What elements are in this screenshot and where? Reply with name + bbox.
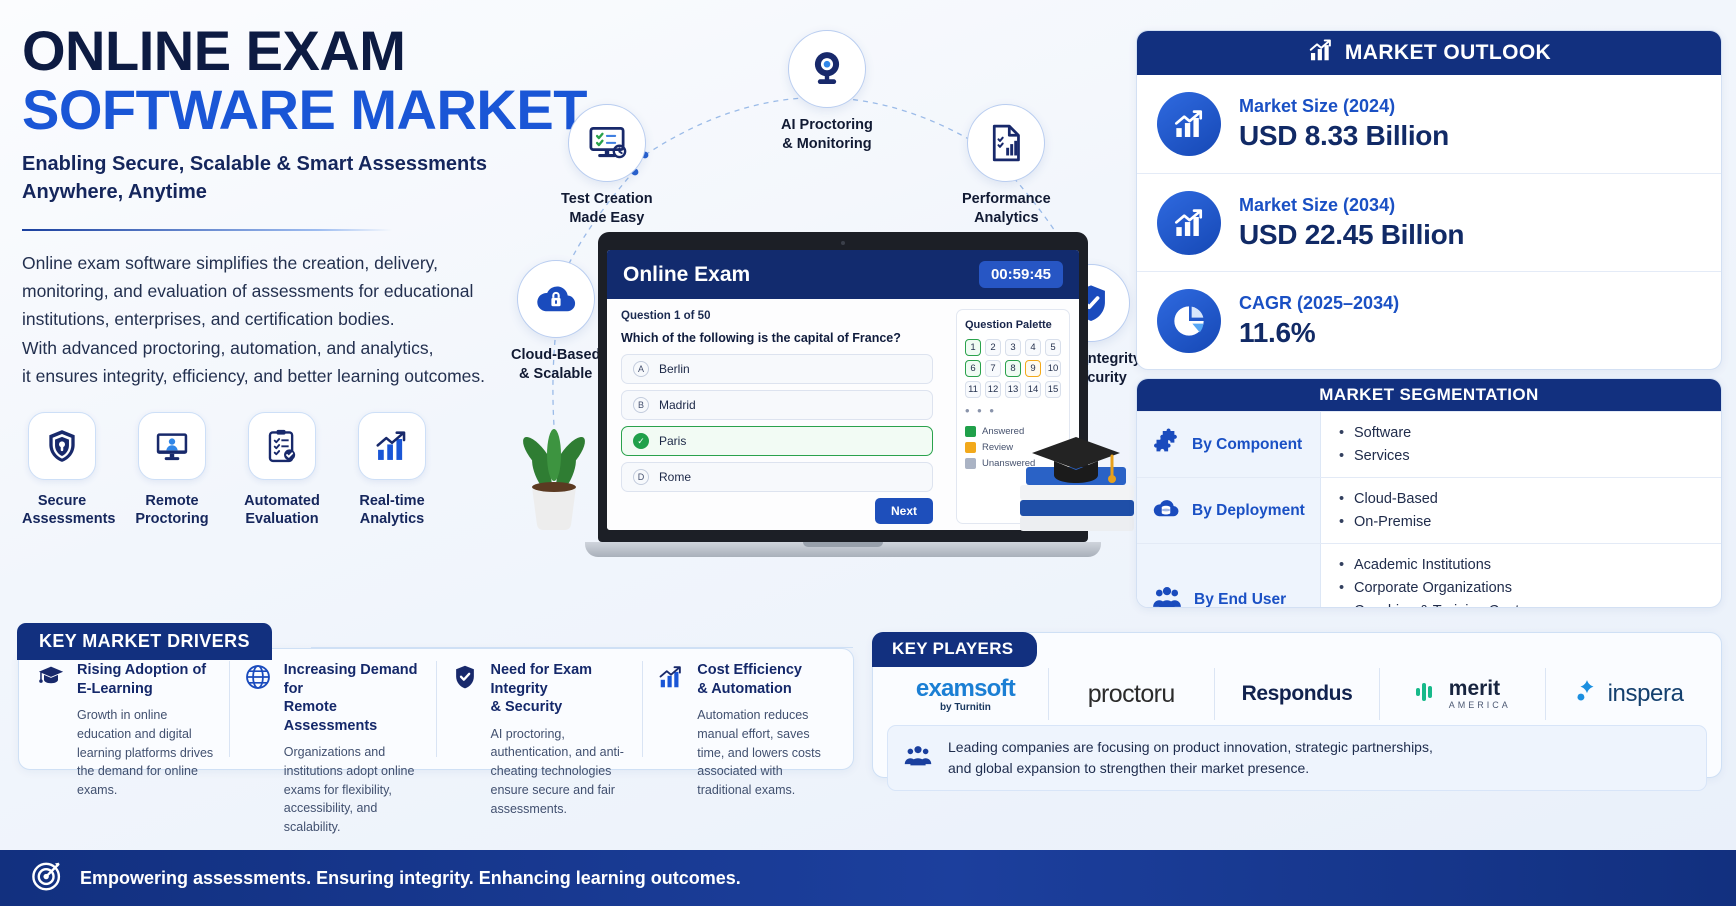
title-line2: Remote Assessments [284,698,422,735]
label-line1: Test Creation [561,190,653,209]
logo-proctoru[interactable]: proctoru [1048,668,1214,720]
bar-chart-arrow-icon [1307,36,1335,70]
metric-label: CAGR (2025–2034) [1239,293,1399,314]
feature-pill-label: Real-time Analytics [352,492,432,529]
hub-node-ai-proctoring[interactable]: AI Proctoring & Monitoring [781,30,873,153]
bar-chart-arrow-icon [657,661,687,757]
segmentation-row-items: Academic Institutions Corporate Organiza… [1321,544,1721,608]
driver-title: Rising Adoption of E-Learning [77,661,215,698]
next-question-button[interactable]: Next [875,498,933,524]
metric-value: USD 8.33 Billion [1239,120,1449,152]
segmentation-item: Corporate Organizations [1339,577,1703,600]
label-line2: Assessments [22,510,102,528]
question-counter: Question 1 of 50 [621,310,933,322]
legend-label: Review [982,442,1013,453]
logo-respondus[interactable]: Respondus [1214,668,1380,720]
key-market-drivers-panel: KEY MARKET DRIVERS Rising Adoption of E-… [18,648,854,770]
key-market-drivers-heading: KEY MARKET DRIVERS [17,623,272,660]
answer-option-list: A Berlin B Madrid ✓ Paris [621,354,933,492]
key-market-drivers-rule [311,647,853,648]
option-text: Rome [659,470,691,484]
title-line2: & Automation [697,680,835,699]
driver-remote-assessments: Increasing Demand for Remote Assessments… [229,661,436,757]
driver-text: Cost Efficiency & Automation Automation … [697,661,835,757]
feature-pill-remote-proctoring[interactable]: Remote Proctoring [132,412,212,529]
palette-number[interactable]: 11 [965,381,981,398]
cloud-db-icon [1151,493,1181,528]
legend-swatch [965,442,976,453]
analytics-doc-icon [967,104,1045,182]
segmentation-row-deployment: By Deployment Cloud-Based On-Premise [1137,477,1721,543]
logo-examsoft[interactable]: examsoft by Turnitin [883,668,1048,720]
key-players-panel: KEY PLAYERS examsoft by Turnitin proctor… [872,632,1722,778]
intro-line: monitoring, and evaluation of assessment… [22,277,492,305]
intro-paragraph: Online exam software simplifies the crea… [22,249,492,391]
label-line2: Analytics [962,209,1051,228]
exam-app-title: Online Exam [623,263,750,287]
label-line2: Made Easy [561,209,653,228]
palette-number[interactable]: 2 [985,339,1001,356]
title-line1: Need for Exam Integrity [491,661,629,698]
segmentation-label: By Component [1192,436,1302,454]
globe-icon [244,661,274,757]
logo-merit-tagline: AMERICA [1449,700,1511,710]
palette-number[interactable]: 6 [965,360,981,377]
option-key: B [633,397,649,413]
driver-text: Rising Adoption of E-Learning Growth in … [77,661,215,757]
hub-node-label: AI Proctoring & Monitoring [781,116,873,153]
logo-proctoru-name: proctoru [1088,680,1175,709]
answer-option-b[interactable]: B Madrid [621,390,933,420]
feature-pill-label: Automated Evaluation [242,492,322,529]
market-outlook-row-size-2024: Market Size (2024) USD 8.33 Billion [1137,75,1721,173]
palette-number[interactable]: 15 [1045,381,1061,398]
segmentation-item: On-Premise [1339,511,1703,534]
label-line2: & Monitoring [781,135,873,154]
key-players-heading: KEY PLAYERS [872,632,1037,667]
segmentation-row-label: By Deployment [1137,478,1321,543]
label-line2: Analytics [352,510,432,528]
monitor-user-icon [138,412,206,480]
segmentation-row-label: By Component [1137,412,1321,477]
label-line1: Secure [22,492,102,510]
label-line1: Performance [962,190,1051,209]
driver-body: Automation reduces manual effort, saves … [697,706,835,800]
palette-number[interactable]: 8 [1005,360,1021,377]
palette-number[interactable]: 13 [1005,381,1021,398]
hub-node-label: Cloud-Based & Scalable [511,346,600,383]
palette-number[interactable]: 9 [1025,360,1041,377]
answer-option-c-selected[interactable]: ✓ Paris [621,426,933,456]
market-segmentation-header: MARKET SEGMENTATION [1137,379,1721,411]
cloud-lock-icon [517,260,595,338]
test-creation-icon [568,104,646,182]
question-palette-grid: 1 2 3 4 5 6 7 8 9 10 11 [965,339,1061,398]
title-line2: E-Learning [77,680,215,699]
market-outlook-row-text: Market Size (2024) USD 8.33 Billion [1239,96,1449,152]
label-line2: Proctoring [132,510,212,528]
intro-line: it ensures integrity, efficiency, and be… [22,362,492,390]
palette-number[interactable]: 5 [1045,339,1061,356]
driver-body: Organizations and institutions adopt onl… [284,743,422,837]
key-players-note: Leading companies are focusing on produc… [887,725,1707,791]
hub-node-test-creation[interactable]: Test Creation Made Easy [561,104,653,227]
shield-check-icon [451,661,481,757]
feature-pill-realtime-analytics[interactable]: Real-time Analytics [352,412,432,529]
segmentation-row-items: Software Services [1321,412,1721,477]
palette-number[interactable]: 4 [1025,339,1041,356]
palette-number[interactable]: 12 [985,381,1001,398]
market-outlook-row-size-2034: Market Size (2034) USD 22.45 Billion [1137,173,1721,271]
webcam-icon [788,30,866,108]
segmentation-item: Cloud-Based [1339,488,1703,511]
driver-text: Increasing Demand for Remote Assessments… [284,661,422,757]
legend-swatch [965,458,976,469]
feature-pill-label: Secure Assessments [22,492,102,529]
driver-rising-adoption: Rising Adoption of E-Learning Growth in … [23,661,229,757]
market-outlook-row-cagr: CAGR (2025–2034) 11.6% [1137,271,1721,369]
logo-inspera[interactable]: inspera [1545,668,1711,720]
laptop-base [585,542,1101,557]
question-palette-title: Question Palette [965,319,1061,331]
label-line1: AI Proctoring [781,116,873,135]
decorative-plant [508,395,600,530]
people-icon [902,742,934,775]
label-line1: Real-time [352,492,432,510]
driver-title: Need for Exam Integrity & Security [491,661,629,717]
title-line2: & Security [491,698,629,717]
exam-timer: 00:59:45 [979,261,1063,288]
target-icon [30,859,64,898]
exam-app-screen: Online Exam 00:59:45 Question 1 of 50 Wh… [607,250,1079,530]
people-icon [1151,581,1183,608]
feature-pill-label: Remote Proctoring [132,492,212,529]
answer-option-d[interactable]: D Rome [621,462,933,492]
answer-option-a[interactable]: A Berlin [621,354,933,384]
segmentation-label: By End User [1194,591,1286,608]
metric-label: Market Size (2034) [1239,195,1464,216]
intro-line: institutions, enterprises, and certifica… [22,305,492,333]
decorative-books-graduation-cap [1012,415,1142,540]
title-line1: Increasing Demand for [284,661,422,698]
label-line2: Evaluation [242,510,322,528]
option-selected-check-icon: ✓ [633,433,649,449]
intro-line: Online exam software simplifies the crea… [22,249,492,277]
footer-text: Empowering assessments. Ensuring integri… [80,868,741,889]
segmentation-row-items: Cloud-Based On-Premise [1321,478,1721,543]
logo-merit-name: merit [1449,677,1500,700]
driver-exam-integrity: Need for Exam Integrity & Security AI pr… [436,661,643,757]
hub-node-cloud-based[interactable]: Cloud-Based & Scalable [511,260,600,383]
question-text: Which of the following is the capital of… [621,331,933,345]
puzzle-icon [1151,427,1181,462]
segmentation-row-end-user: By End User Academic Institutions Corpor… [1137,543,1721,608]
driver-title: Cost Efficiency & Automation [697,661,835,698]
segmentation-item: Software [1339,422,1703,445]
palette-number[interactable]: 10 [1045,360,1061,377]
title-line1: Rising Adoption of [77,661,215,680]
exam-question-pane: Question 1 of 50 Which of the following … [607,299,947,530]
logo-examsoft-name: examsoft [916,675,1015,703]
graduation-cap-icon [37,661,67,757]
shield-lock-icon [28,412,96,480]
driver-body: Growth in online education and digital l… [77,706,215,800]
market-segmentation-panel: MARKET SEGMENTATION By Component Softwar… [1136,378,1722,608]
market-outlook-panel: MARKET OUTLOOK Market Size (2024) USD 8.… [1136,30,1722,370]
option-text: Madrid [659,398,696,412]
growth-chart-icon [1157,92,1221,156]
segmentation-item: Coaching & Training Centers [1339,600,1703,608]
legend-swatch [965,426,976,437]
laptop-trackpad-notch [803,542,883,547]
growth-chart-icon [1157,191,1221,255]
hub-node-label: Test Creation Made Easy [561,190,653,227]
label-line1: Remote [132,492,212,510]
merit-bars-icon [1415,680,1441,709]
driver-title: Increasing Demand for Remote Assessments [284,661,422,735]
metric-value: 11.6% [1239,317,1399,349]
exam-app-header: Online Exam 00:59:45 [607,250,1079,299]
logo-examsoft-tagline: by Turnitin [916,702,1015,713]
segmentation-row-component: By Component Software Services [1137,411,1721,477]
segmentation-label: By Deployment [1192,502,1305,520]
hub-node-performance-analytics[interactable]: Performance Analytics [962,104,1051,227]
feature-pill-list: Secure Assessments Remote Proctoring Aut… [22,412,432,529]
metric-label: Market Size (2024) [1239,96,1449,117]
segmentation-row-label: By End User [1137,544,1321,608]
title-divider [22,229,392,231]
clipboard-check-icon [248,412,316,480]
market-outlook-title: MARKET OUTLOOK [1345,41,1551,65]
option-key: D [633,469,649,485]
hub-node-label: Performance Analytics [962,190,1051,227]
bar-chart-arrow-icon [358,412,426,480]
inspera-mark-icon [1574,678,1600,711]
logo-respondus-name: Respondus [1242,682,1353,706]
driver-body: AI proctoring, authentication, and anti-… [491,725,629,819]
market-outlook-row-text: Market Size (2034) USD 22.45 Billion [1239,195,1464,251]
logo-inspera-name: inspera [1608,680,1684,708]
option-key: A [633,361,649,377]
market-outlook-header: MARKET OUTLOOK [1137,31,1721,75]
label-line1: Automated [242,492,322,510]
option-text: Berlin [659,362,690,376]
key-market-drivers-grid: Rising Adoption of E-Learning Growth in … [19,649,853,769]
logo-merit-america[interactable]: merit AMERICA [1379,668,1545,720]
title-line1: Cost Efficiency [697,661,835,680]
segmentation-item: Academic Institutions [1339,554,1703,577]
driver-cost-efficiency: Cost Efficiency & Automation Automation … [642,661,849,757]
feature-pill-automated-evaluation[interactable]: Automated Evaluation [242,412,322,529]
note-line1: Leading companies are focusing on produc… [948,739,1433,755]
label-line1: Cloud-Based [511,346,600,365]
palette-number[interactable]: 1 [965,339,981,356]
footer-bar: Empowering assessments. Ensuring integri… [0,850,1736,906]
palette-number[interactable]: 14 [1025,381,1041,398]
option-text: Paris [659,434,686,448]
market-outlook-row-text: CAGR (2025–2034) 11.6% [1239,293,1399,349]
segmentation-item: Services [1339,445,1703,468]
intro-line: With advanced proctoring, automation, an… [22,334,492,362]
pie-chart-icon [1157,289,1221,353]
label-line2: & Scalable [511,365,600,384]
feature-pill-secure-assessments[interactable]: Secure Assessments [22,412,102,529]
exam-actions: Next [621,492,933,524]
exam-app-body: Question 1 of 50 Which of the following … [607,299,1079,530]
note-line2: and global expansion to strengthen their… [948,760,1309,776]
metric-value: USD 22.45 Billion [1239,219,1464,251]
palette-number[interactable]: 7 [985,360,1001,377]
palette-number[interactable]: 3 [1005,339,1021,356]
laptop-camera-icon [841,241,845,245]
key-players-note-text: Leading companies are focusing on produc… [948,737,1433,779]
driver-text: Need for Exam Integrity & Security AI pr… [491,661,629,757]
